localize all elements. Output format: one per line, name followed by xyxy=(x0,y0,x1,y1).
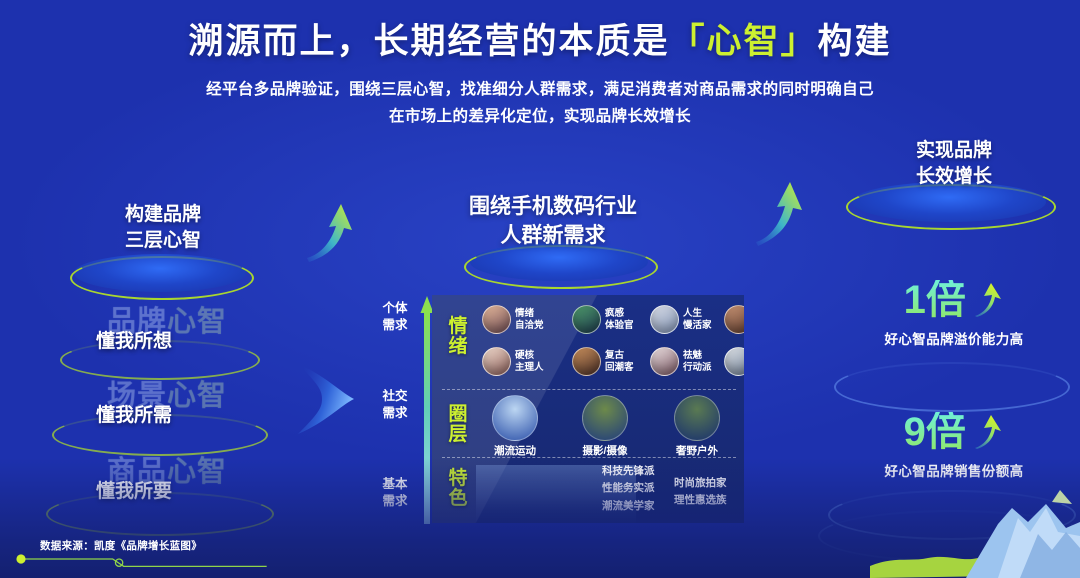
needs-group-circle: 圈层 潮流运动 摄影/摄像 奢野户外 xyxy=(432,391,744,459)
group-tag-emotion: 情绪 xyxy=(442,317,474,357)
avatar xyxy=(674,395,720,441)
persona-label: 疯感体验官 xyxy=(605,308,634,331)
pyramid-title-line-1: 构建品牌 xyxy=(62,202,264,228)
results-column: 实现品牌 长效增长 1倍 好心智品牌溢价能力高 9倍 好心智品牌销售份额高 xyxy=(828,138,1080,538)
axis-label-social: 社交需求 xyxy=(372,388,418,422)
brand-mind-pyramid: 构建品牌 三层心智 品牌心智 懂我所想 场景心智 懂我所需 商品心智 懂我所要 xyxy=(62,196,342,526)
avatar xyxy=(650,347,679,376)
page-title: 溯源而上，长期经营的本质是「心智」构建 xyxy=(0,22,1080,62)
persona-label: 复古回潮客 xyxy=(605,350,634,373)
persona-item[interactable]: 情绪自洽党 xyxy=(482,305,544,334)
feature-item: 性能务实派 xyxy=(602,480,655,497)
avatar xyxy=(724,347,744,376)
stat-share-number: 9倍 xyxy=(904,412,966,452)
circle-item[interactable]: 潮流运动 xyxy=(472,395,558,458)
rising-arrow-right-icon xyxy=(752,168,814,248)
stat-up-arrow-icon xyxy=(974,414,1004,450)
axis-label-individual: 个体需求 xyxy=(372,300,418,334)
avatar xyxy=(572,347,601,376)
persona-label: 硬核主理人 xyxy=(515,350,544,373)
group-divider xyxy=(442,389,736,390)
needs-group-emotion: 情绪 情绪自洽党 疯感体验官 人生慢活家 多巴胺猎手 硬核主理人 xyxy=(432,295,744,391)
needs-axis: 个体需求 社交需求 基本需求 xyxy=(372,296,434,524)
persona-label: 情绪自洽党 xyxy=(515,308,544,331)
center-title: 围绕手机数码行业 人群新需求 xyxy=(388,192,718,251)
avatar xyxy=(482,347,511,376)
persona-item[interactable]: 血脉觉醒党 xyxy=(724,347,744,376)
avatar xyxy=(482,305,511,334)
persona-item[interactable]: 硬核主理人 xyxy=(482,347,544,376)
persona-item[interactable]: 祛魅行动派 xyxy=(650,347,712,376)
pyramid-title: 构建品牌 三层心智 xyxy=(62,202,264,253)
circle-item[interactable]: 奢野户外 xyxy=(654,395,740,458)
stat-premium: 1倍 好心智品牌溢价能力高 xyxy=(828,280,1080,348)
stat-premium-number: 1倍 xyxy=(904,280,966,320)
pyramid-top-disc-ring xyxy=(70,256,254,300)
feature-item: 潮流美学家 xyxy=(602,498,655,515)
page-title-main: 溯源而上，长期经营的本质是 xyxy=(188,22,669,61)
persona-item[interactable]: 疯感体验官 xyxy=(572,305,634,334)
circle-label: 潮流运动 xyxy=(472,443,558,458)
needs-group-feature: 特色 科技先锋派 性能务实派 潮流美学家 时尚旅拍家 理性惠选族 xyxy=(432,459,744,523)
flow-arrow-icon xyxy=(296,362,362,436)
results-mid-disc-ring xyxy=(834,362,1070,412)
subtitle-line-2: 在市场上的差异化定位，实现品牌长效增长 xyxy=(0,103,1080,130)
results-title-line-2: 长效增长 xyxy=(828,164,1080,190)
feature-item: 时尚旅拍家 xyxy=(674,475,727,492)
group-divider xyxy=(442,457,736,458)
rising-arrow-left-icon xyxy=(303,192,365,264)
group-tag-circle: 圈层 xyxy=(442,405,474,445)
circle-label: 摄影/摄像 xyxy=(562,443,648,458)
pyramid-tier-3[interactable]: 商品心智 懂我所要 xyxy=(62,450,268,520)
avatar xyxy=(724,305,744,334)
group-tag-feature: 特色 xyxy=(442,469,474,509)
persona-label: 祛魅行动派 xyxy=(683,350,712,373)
needs-panel: 情绪 情绪自洽党 疯感体验官 人生慢活家 多巴胺猎手 硬核主理人 xyxy=(432,295,744,523)
pyramid-tier-2[interactable]: 场景心智 懂我所需 xyxy=(62,374,268,444)
persona-item[interactable]: 人生慢活家 xyxy=(650,305,712,334)
pyramid-tier-1-label: 懂我所想 xyxy=(96,326,302,353)
results-disc-ring xyxy=(846,184,1056,230)
avatar xyxy=(572,305,601,334)
pyramid-tier-2-label: 懂我所需 xyxy=(96,400,302,427)
feature-column-2: 时尚旅拍家 理性惠选族 xyxy=(674,475,727,510)
results-title-line-1: 实现品牌 xyxy=(828,138,1080,164)
source-note: 数据来源：凯度《品牌增长蓝图》 xyxy=(40,538,202,553)
header: 溯源而上，长期经营的本质是「心智」构建 经平台多品牌验证，围绕三层心智，找准细分… xyxy=(0,22,1080,131)
stat-share-desc: 好心智品牌销售份额高 xyxy=(828,460,1080,480)
avatar xyxy=(492,395,538,441)
axis-label-basic: 基本需求 xyxy=(372,476,418,510)
persona-label: 人生慢活家 xyxy=(683,308,712,331)
stat-share: 9倍 好心智品牌销售份额高 xyxy=(828,412,1080,480)
center-title-line-1: 围绕手机数码行业 xyxy=(388,192,718,221)
feature-item: 科技先锋派 xyxy=(602,463,655,480)
stat-up-arrow-icon xyxy=(974,282,1004,318)
page-subtitle: 经平台多品牌验证，围绕三层心智，找准细分人群需求，满足消费者对商品需求的同时明确… xyxy=(0,76,1080,130)
feature-column-1: 科技先锋派 性能务实派 潮流美学家 xyxy=(602,463,655,515)
subtitle-line-1: 经平台多品牌验证，围绕三层心智，找准细分人群需求，满足消费者对商品需求的同时明确… xyxy=(0,76,1080,103)
persona-item[interactable]: 多巴胺猎手 xyxy=(724,305,744,334)
avatar xyxy=(650,305,679,334)
mountain-graphic xyxy=(870,488,1080,578)
circle-label: 奢野户外 xyxy=(654,443,740,458)
pyramid-tier-1[interactable]: 品牌心智 懂我所想 xyxy=(62,300,268,370)
center-title-line-2: 人群新需求 xyxy=(388,221,718,250)
page-title-tail: 构建 xyxy=(818,22,892,61)
circle-item[interactable]: 摄影/摄像 xyxy=(562,395,648,458)
persona-item[interactable]: 复古回潮客 xyxy=(572,347,634,376)
pyramid-tier-3-label: 懂我所要 xyxy=(96,476,302,503)
page-title-highlight: 「心智」 xyxy=(669,22,817,61)
stat-premium-desc: 好心智品牌溢价能力高 xyxy=(828,328,1080,348)
avatar xyxy=(582,395,628,441)
results-title: 实现品牌 长效增长 xyxy=(828,138,1080,190)
pyramid-title-line-2: 三层心智 xyxy=(62,228,264,254)
feature-item: 理性惠选族 xyxy=(674,492,727,509)
center-disc-ring xyxy=(464,245,658,289)
